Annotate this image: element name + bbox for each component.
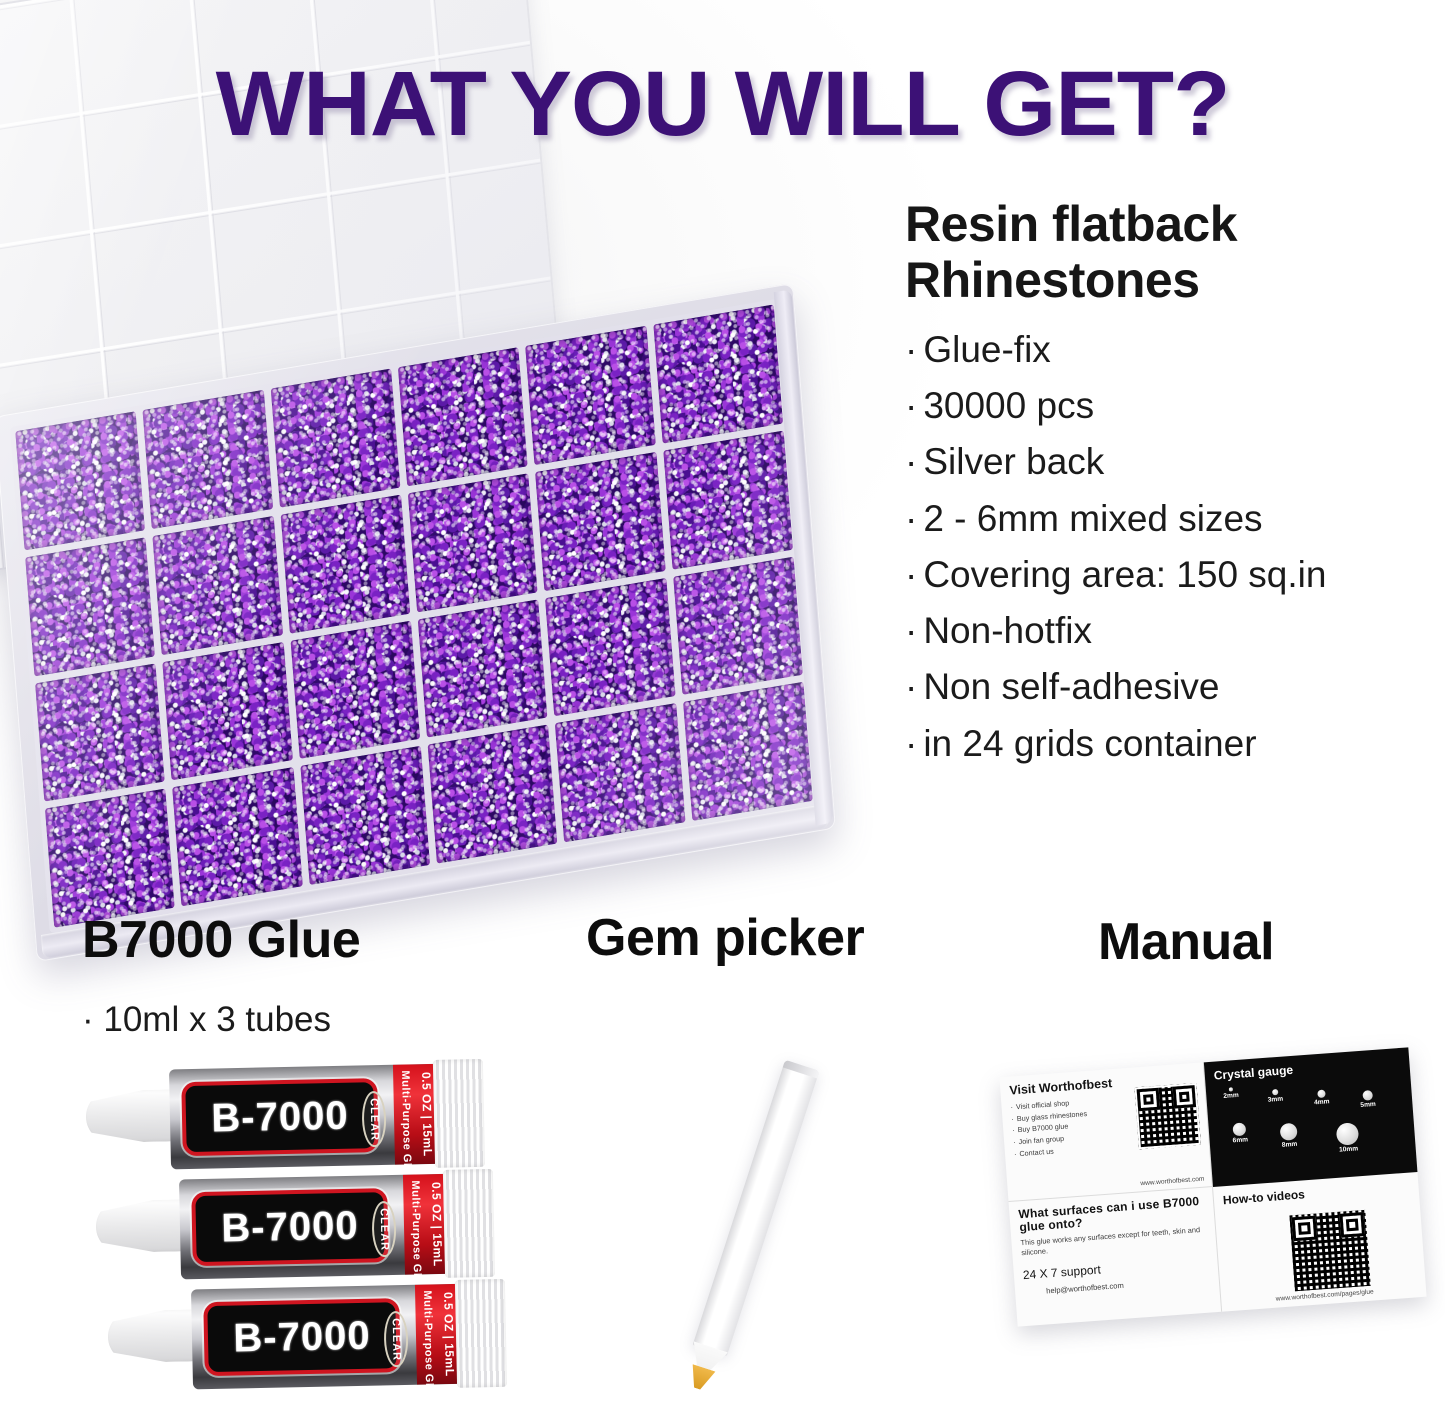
tube-clear-label: CLEAR bbox=[390, 1318, 403, 1361]
gauge-size-label: 2mm bbox=[1223, 1092, 1239, 1100]
grid-cell bbox=[143, 390, 273, 529]
feature-item: ·Covering area: 150 sq.in bbox=[905, 547, 1435, 603]
feature-item: ·2 - 6mm mixed sizes bbox=[905, 491, 1435, 547]
bullet-mark: · bbox=[905, 441, 923, 482]
feature-item: ·Non self-adhesive bbox=[905, 659, 1435, 715]
feature-label: in 24 grids container bbox=[923, 723, 1256, 764]
feature-label: 2 - 6mm mixed sizes bbox=[923, 498, 1262, 539]
crystal-gauge-chart: 2mm 3mm 4mm 5mm 6mm 8mm 10mm bbox=[1215, 1071, 1408, 1170]
feature-item: ·in 24 grids container bbox=[905, 716, 1435, 772]
feature-item: ·Glue-fix bbox=[905, 322, 1435, 378]
bullet-mark: · bbox=[905, 610, 923, 651]
feature-label: Non-hotfix bbox=[923, 610, 1092, 651]
gauge-size: 5mm bbox=[1359, 1090, 1376, 1109]
feature-label: Glue-fix bbox=[923, 329, 1050, 370]
tube-clear-badge: CLEAR bbox=[383, 1311, 408, 1367]
gauge-dot-icon bbox=[1317, 1090, 1326, 1099]
product-heading: Resin flatback Rhinestones bbox=[905, 196, 1435, 308]
gauge-size-label: 8mm bbox=[1281, 1141, 1298, 1149]
tube-nozzle-cap bbox=[107, 1309, 204, 1363]
feature-label: Non self-adhesive bbox=[923, 666, 1219, 707]
grid-cell bbox=[153, 516, 283, 655]
product-feature-panel: Resin flatback Rhinestones ·Glue-fix ·30… bbox=[905, 196, 1435, 772]
gauge-size: 10mm bbox=[1336, 1122, 1360, 1154]
tube-body: B-7000 CLEAR Multi-Purpose Glue 0.5 OZ |… bbox=[191, 1284, 461, 1390]
grid-cell bbox=[45, 789, 175, 928]
tube-purpose-label: Multi-Purpose Glue bbox=[409, 1180, 423, 1268]
grid-cell bbox=[408, 473, 538, 612]
tube-brand-label: B-7000 bbox=[211, 1093, 349, 1141]
gauge-dot-icon bbox=[1336, 1122, 1360, 1146]
grid-cell bbox=[15, 411, 145, 550]
grid-cell bbox=[683, 682, 813, 821]
bullet-mark: · bbox=[905, 723, 923, 764]
grid-cell bbox=[300, 746, 430, 885]
feature-label: Covering area: 150 sq.in bbox=[923, 554, 1326, 595]
gauge-dot-icon bbox=[1233, 1122, 1247, 1136]
tube-brand-plate: B-7000 bbox=[191, 1188, 389, 1266]
grid-cell bbox=[270, 368, 400, 507]
manual-videos-title: How-to videos bbox=[1222, 1180, 1410, 1208]
gauge-size: 6mm bbox=[1231, 1122, 1248, 1144]
manual-quadrant-videos: How-to videos www.worthofbest.com/pages/… bbox=[1213, 1172, 1427, 1312]
qr-code-icon bbox=[1135, 1083, 1201, 1149]
tube-brand-plate: B-7000 bbox=[181, 1078, 379, 1156]
gem-picker-pencil bbox=[693, 1060, 820, 1356]
bullet-mark: · bbox=[905, 385, 923, 426]
feature-item: ·30000 pcs bbox=[905, 378, 1435, 434]
gauge-dot-icon bbox=[1362, 1090, 1373, 1101]
tube-body: B-7000 CLEAR Multi-Purpose Glue 0.5 OZ |… bbox=[179, 1174, 449, 1280]
grid-cell bbox=[555, 703, 685, 842]
tube-clear-label: CLEAR bbox=[368, 1098, 381, 1141]
tube-nozzle-cap bbox=[85, 1089, 182, 1143]
tube-brand-plate: B-7000 bbox=[203, 1298, 401, 1376]
gauge-size-label: 4mm bbox=[1314, 1098, 1330, 1106]
grid-cell bbox=[35, 663, 165, 802]
bullet-mark: · bbox=[905, 666, 923, 707]
feature-list: ·Glue-fix ·30000 pcs ·Silver back ·2 - 6… bbox=[905, 322, 1435, 772]
manual-quadrant-visit: Visit Worthofbest ·Visit official shop ·… bbox=[999, 1062, 1213, 1202]
tube-crimp-seal bbox=[433, 1059, 485, 1168]
product-infographic: WHAT YOU WILL GET? bbox=[0, 0, 1445, 1419]
tube-brand-label: B-7000 bbox=[233, 1313, 371, 1361]
section-heading-glue: B7000 Glue bbox=[82, 910, 360, 970]
tube-clear-badge: CLEAR bbox=[371, 1201, 396, 1257]
product-heading-line-1: Resin flatback bbox=[905, 196, 1237, 252]
page-title: WHAT YOU WILL GET? bbox=[0, 52, 1445, 157]
qr-code-icon bbox=[1289, 1210, 1370, 1291]
grid-cell bbox=[163, 642, 293, 781]
manual-visit-url: www.worthofbest.com bbox=[1140, 1176, 1204, 1188]
grid-cell bbox=[545, 577, 675, 716]
tube-brand-label: B-7000 bbox=[221, 1203, 359, 1251]
bullet-mark: · bbox=[905, 329, 923, 370]
gauge-size: 2mm bbox=[1223, 1087, 1239, 1100]
feature-item: ·Non-hotfix bbox=[905, 603, 1435, 659]
gem-picker-image bbox=[660, 1040, 960, 1380]
grid-cell bbox=[173, 767, 303, 906]
grid-cell bbox=[653, 304, 783, 443]
gauge-size-label: 6mm bbox=[1232, 1136, 1248, 1144]
grid-cell bbox=[525, 326, 655, 465]
glue-tube: B-7000 CLEAR Multi-Purpose Glue 0.5 OZ |… bbox=[107, 1279, 509, 1395]
bullet-mark: · bbox=[905, 498, 923, 539]
pencil-end bbox=[783, 1060, 820, 1079]
grid-cell bbox=[428, 725, 558, 864]
tube-nozzle-cap bbox=[95, 1199, 192, 1253]
gauge-size-label: 3mm bbox=[1268, 1096, 1284, 1104]
manual-visit-item-label: Contact us bbox=[1019, 1146, 1054, 1157]
tube-purpose-label: Multi-Purpose Glue bbox=[421, 1290, 435, 1378]
grid-cell bbox=[418, 599, 548, 738]
rhinestone-container-image bbox=[0, 150, 890, 910]
section-heading-manual: Manual bbox=[1098, 912, 1274, 972]
grid-cell bbox=[398, 347, 528, 486]
tube-crimp-seal bbox=[455, 1279, 507, 1388]
gauge-dot-icon bbox=[1228, 1087, 1232, 1091]
grid-cell bbox=[280, 494, 410, 633]
grid-cell bbox=[25, 537, 155, 676]
gauge-size: 3mm bbox=[1267, 1089, 1283, 1104]
glue-tube: B-7000 CLEAR Multi-Purpose Glue 0.5 OZ |… bbox=[95, 1169, 497, 1285]
manual-visit-item-label: Join fan group bbox=[1018, 1134, 1064, 1146]
grid-cell bbox=[663, 430, 793, 569]
grid-cell bbox=[535, 452, 665, 591]
gauge-size: 4mm bbox=[1313, 1089, 1330, 1106]
glue-tube: B-7000 CLEAR Multi-Purpose Glue 0.5 OZ |… bbox=[85, 1059, 487, 1175]
grid-cell bbox=[290, 620, 420, 759]
manual-quadrant-crystal-gauge: Crystal gauge 2mm 3mm 4mm 5mm 6mm 8mm 10… bbox=[1204, 1047, 1418, 1187]
gauge-size-label: 10mm bbox=[1337, 1145, 1359, 1154]
glue-tubes-image: B-7000 CLEAR Multi-Purpose Glue 0.5 OZ |… bbox=[78, 1055, 548, 1400]
manual-card-image: Visit Worthofbest ·Visit official shop ·… bbox=[999, 1047, 1426, 1326]
glue-detail-text: · 10ml x 3 tubes bbox=[82, 1000, 331, 1040]
tube-clear-badge: CLEAR bbox=[361, 1091, 386, 1147]
grid-cell bbox=[673, 556, 803, 695]
manual-quadrant-surfaces: What surfaces can i use B7000 glue onto?… bbox=[1009, 1187, 1223, 1327]
tube-crimp-seal bbox=[443, 1169, 495, 1278]
gauge-dot-icon bbox=[1280, 1123, 1298, 1141]
feature-label: 30000 pcs bbox=[923, 385, 1094, 426]
gauge-size-label: 5mm bbox=[1360, 1101, 1376, 1109]
product-heading-line-2: Rhinestones bbox=[905, 252, 1200, 308]
tube-purpose-label: Multi-Purpose Glue bbox=[399, 1070, 413, 1158]
feature-item: ·Silver back bbox=[905, 434, 1435, 490]
gauge-size: 8mm bbox=[1280, 1123, 1299, 1149]
bullet-mark: · bbox=[905, 554, 923, 595]
feature-label: Silver back bbox=[923, 441, 1104, 482]
tube-clear-label: CLEAR bbox=[378, 1208, 391, 1251]
tube-body: B-7000 CLEAR Multi-Purpose Glue 0.5 OZ |… bbox=[169, 1064, 439, 1170]
section-heading-picker: Gem picker bbox=[586, 908, 864, 968]
gauge-dot-icon bbox=[1272, 1089, 1278, 1095]
